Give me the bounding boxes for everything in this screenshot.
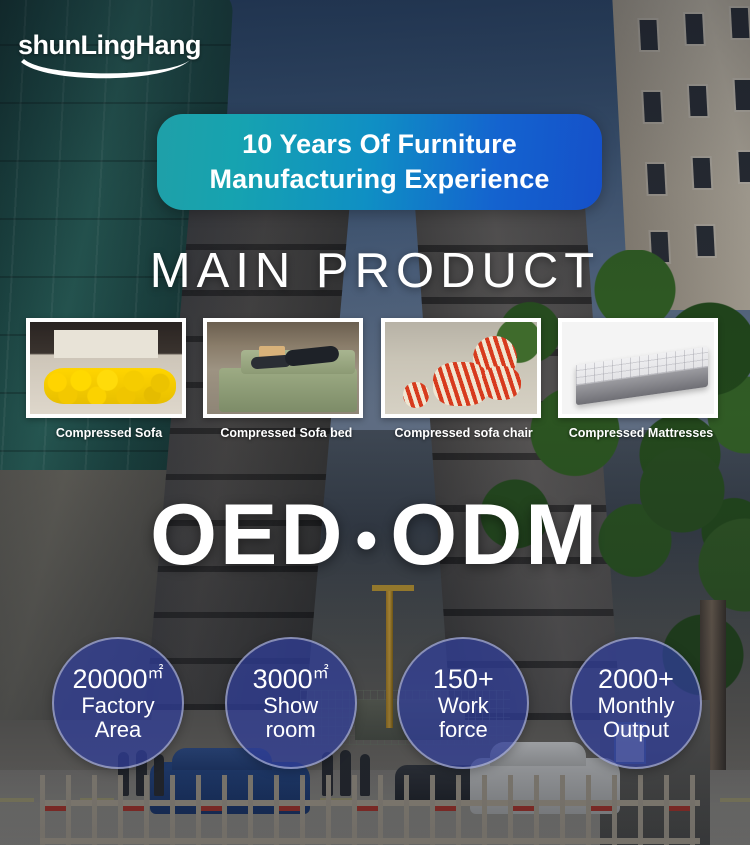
company-logo: shunLingHang [18,32,193,86]
stat-label-line-2: Output [603,718,669,741]
product-card[interactable]: Compressed Sofa bed [203,318,369,440]
product-label: Compressed Mattresses [558,426,724,440]
product-card-list: Compressed Sofa Compressed Sofa bed [26,318,724,440]
stat-circle-monthly-output[interactable]: 2000+ Monthly Output [570,637,702,769]
stat-value: 2000+ [598,664,674,694]
stat-value: 20000 [72,664,147,694]
stat-circle-show-room[interactable]: 3000㎡ Show room [225,637,357,769]
stat-label-line-1: Work [438,694,489,717]
stat-unit: ㎡ [313,665,329,682]
stat-number: 2000+ [598,665,674,693]
product-label: Compressed sofa chair [381,426,547,440]
stat-circle-factory-area[interactable]: 20000㎡ Factory Area [52,637,184,769]
service-title-oed-odm: OED•ODM [0,492,750,578]
product-label: Compressed Sofa [26,426,192,440]
stat-value: 3000 [253,664,313,694]
product-card[interactable]: Compressed Mattresses [558,318,724,440]
product-image-compressed-sofa [26,318,186,418]
bullet-separator-icon: • [346,506,391,575]
service-title-left: OED [150,487,345,583]
stat-label-line-1: Show [263,694,318,717]
section-title-main-product: MAIN PRODUCT [0,243,750,299]
stats-row: 20000㎡ Factory Area 3000㎡ Show room 150+… [52,637,702,769]
headline-line-2: Manufacturing Experience [210,162,550,197]
product-image-compressed-sofa-chair [381,318,541,418]
stat-number: 3000㎡ [253,665,329,693]
stat-unit: ㎡ [148,665,164,682]
product-label: Compressed Sofa bed [203,426,369,440]
stat-label-line-1: Monthly [597,694,674,717]
product-card[interactable]: Compressed Sofa [26,318,192,440]
headline-line-1: 10 Years Of Furniture [242,127,517,162]
swoosh-underline-icon [18,58,193,84]
product-card[interactable]: Compressed sofa chair [381,318,547,440]
product-image-compressed-sofa-bed [203,318,363,418]
product-image-compressed-mattresses [558,318,718,418]
stat-number: 150+ [433,665,494,693]
promotional-banner: shunLingHang 10 Years Of Furniture Manuf… [0,0,750,863]
stat-label-line-2: Area [95,718,141,741]
stat-label-line-1: Factory [81,694,154,717]
banner-content: shunLingHang 10 Years Of Furniture Manuf… [0,0,750,863]
service-title-right: ODM [390,487,600,583]
headline-pill: 10 Years Of Furniture Manufacturing Expe… [157,114,602,210]
logo-text: shunLingHang [18,32,193,59]
stat-label-line-2: force [439,718,488,741]
stat-label-line-2: room [266,718,316,741]
stat-number: 20000㎡ [72,665,163,693]
stat-circle-work-force[interactable]: 150+ Work force [397,637,529,769]
stat-value: 150+ [433,664,494,694]
